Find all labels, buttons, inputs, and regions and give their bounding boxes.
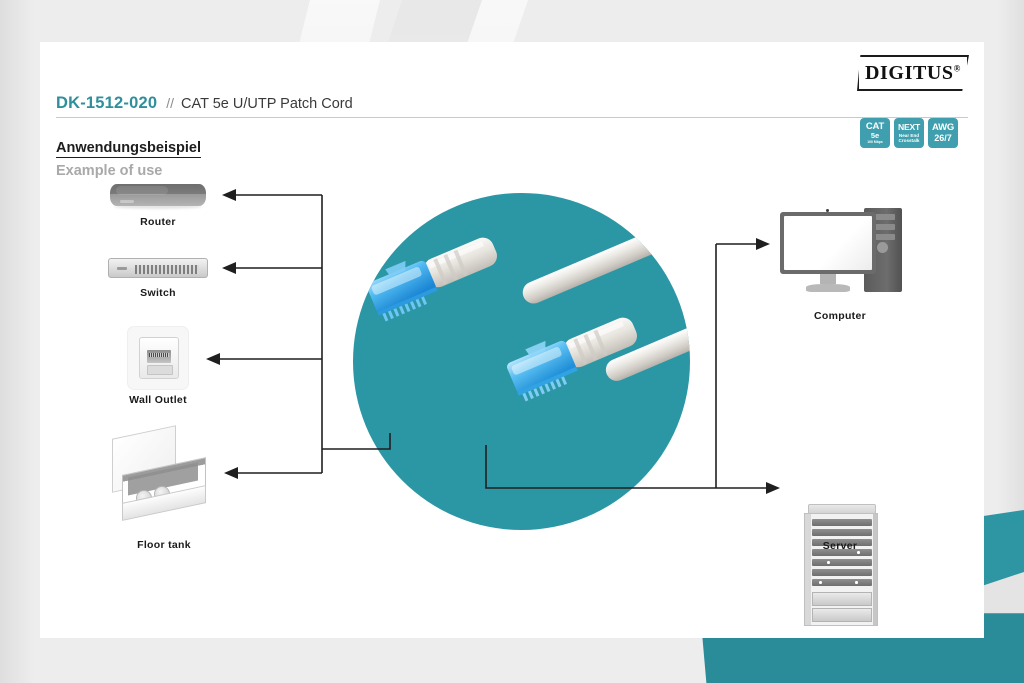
monitor-base (806, 284, 850, 292)
floor-tank-graphic (108, 432, 212, 528)
content-card: DIGITUS® CAT 5e 100 Mbps NEXT Near End C… (40, 42, 984, 638)
monitor-neck (820, 274, 836, 284)
switch-label: Switch (108, 287, 208, 299)
power-button-icon (877, 242, 888, 253)
monitor-bezel (780, 212, 876, 274)
server-led-3 (819, 581, 822, 584)
rj45-jack-icon (147, 350, 171, 363)
server-drive-1 (812, 592, 872, 606)
switch-ports (135, 265, 199, 274)
computer-label: Computer (770, 310, 910, 322)
wall-outlet-inner (139, 337, 179, 379)
monitor-screen (784, 216, 872, 270)
webcam-icon (826, 209, 829, 212)
server-led-4 (855, 581, 858, 584)
wall-outlet-graphic (128, 327, 188, 389)
router-graphic (110, 184, 206, 206)
router-body (110, 184, 206, 206)
server-bay-5 (812, 559, 872, 566)
computer-graphic (780, 208, 906, 294)
wall-outlet-plate (128, 327, 188, 389)
floor-tank-label: Floor tank (112, 539, 216, 551)
wall-outlet-slot (147, 365, 173, 375)
registered-mark-icon: ® (954, 63, 961, 73)
switch-body (108, 258, 208, 278)
datasheet-page: DIGITUS® CAT 5e 100 Mbps NEXT Near End C… (0, 0, 1024, 683)
server-bay-6 (812, 569, 872, 576)
wall-outlet-label: Wall Outlet (108, 394, 208, 406)
switch-graphic (108, 258, 208, 278)
server-drive-2 (812, 608, 872, 622)
server-led-2 (827, 561, 830, 564)
server-label: Server (780, 540, 900, 552)
router-label: Router (110, 216, 206, 228)
server-bay-2 (812, 529, 872, 536)
logo-wordmark: DIGITUS® (857, 62, 969, 85)
logo-text-label: DIGITUS (865, 62, 954, 84)
server-body (804, 513, 878, 626)
server-graphic (804, 504, 878, 626)
switch-led-icon (117, 267, 127, 270)
arrowhead-group-right (756, 238, 780, 494)
background-edge-left (0, 0, 34, 683)
server-bay-1 (812, 519, 872, 526)
